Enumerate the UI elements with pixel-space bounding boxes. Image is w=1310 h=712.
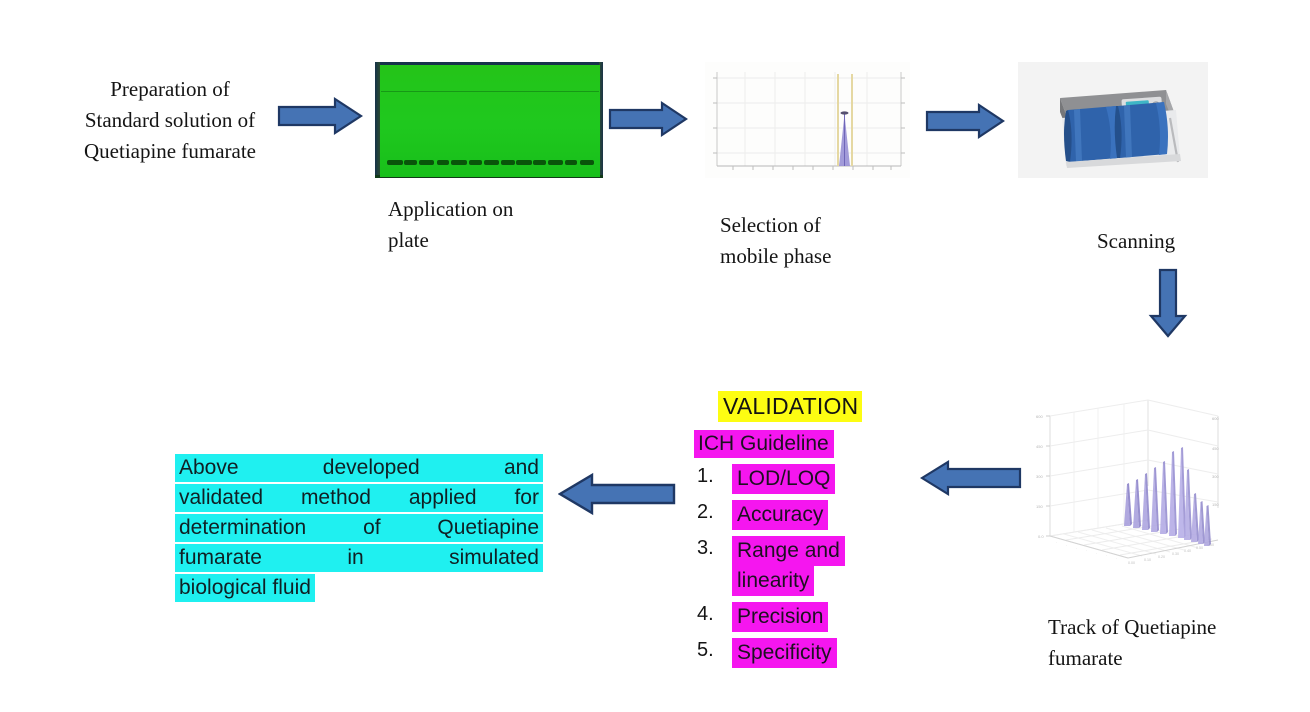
validation-item-label: Specificity: [732, 638, 837, 668]
tlc-scanner-image: [1018, 62, 1208, 178]
caption-track-of-quetiapine-fumarate: Track of Quetiapine fumarate: [1048, 612, 1278, 674]
validation-item-line: linearity: [732, 566, 814, 596]
validation-item: 5.Specificity: [694, 638, 864, 668]
validation-item-line: Accuracy: [732, 500, 828, 530]
conclusion-line: determinationofQuetiapine: [175, 514, 543, 542]
conclusion-word: developed: [323, 457, 420, 478]
validation-item: 4.Precision: [694, 602, 864, 632]
conclusion-word: validated: [179, 487, 263, 508]
validation-item-label: LOD/LOQ: [732, 464, 835, 494]
conclusion-line: Abovedevelopedand: [175, 454, 543, 482]
svg-text:300: 300: [1036, 474, 1043, 479]
validation-item-label: Precision: [732, 602, 828, 632]
validation-item-line: Range and: [732, 536, 845, 566]
step-preparation-label: Preparation of Standard solution of Quet…: [50, 74, 290, 167]
tlc-plate-image: [375, 62, 603, 178]
validation-heading: ICH Guideline: [694, 430, 834, 458]
arrow-right-icon-2: [608, 100, 688, 138]
validation-item: 2.Accuracy: [694, 500, 864, 530]
svg-text:150: 150: [1036, 504, 1043, 509]
conclusion-word: and: [504, 457, 539, 478]
validation-title-text: VALIDATION: [718, 391, 862, 422]
chromatogram-image: [705, 62, 910, 178]
track-3d-plot-image: 600 450 300 150 0.0 600 450 300 150 . . …: [1032, 398, 1222, 578]
conclusion-word: applied: [409, 487, 477, 508]
validation-item-number: 2.: [694, 500, 732, 525]
arrow-left-icon-2: [558, 472, 676, 516]
svg-text:.: .: [1066, 543, 1067, 547]
svg-text:0.00: 0.00: [1128, 561, 1135, 565]
svg-text:.: .: [1096, 551, 1097, 555]
svg-text:300: 300: [1212, 474, 1219, 479]
caption-application-on-plate: Application on plate: [388, 194, 578, 256]
arrow-right-icon-3: [925, 102, 1005, 140]
validation-item-number: 5.: [694, 638, 732, 663]
svg-text:600: 600: [1036, 414, 1043, 419]
validation-title: VALIDATION: [718, 391, 862, 422]
conclusion-word: in: [347, 547, 363, 568]
conclusion-word: method: [301, 487, 371, 508]
conclusion-lines-container: Abovedevelopedandvalidatedmethodappliedf…: [175, 454, 543, 604]
svg-text:0.0: 0.0: [1038, 534, 1044, 539]
validation-list: ICH Guideline 1.LOD/LOQ2.Accuracy3.Range…: [694, 430, 864, 668]
conclusion-word: determination: [179, 517, 306, 538]
validation-item-line: Precision: [732, 602, 828, 632]
conclusion-block: Abovedevelopedandvalidatedmethodappliedf…: [175, 454, 543, 604]
svg-text:0.10: 0.10: [1144, 558, 1151, 562]
validation-item-label: Range andlinearity: [732, 536, 845, 596]
svg-text:.: .: [1076, 546, 1077, 550]
svg-text:600: 600: [1212, 416, 1219, 421]
validation-item-number: 1.: [694, 464, 732, 489]
caption-selection-of-mobile-phase: Selection of mobile phase: [720, 210, 920, 272]
svg-text:0.20: 0.20: [1158, 555, 1165, 559]
conclusion-word: simulated: [449, 547, 539, 568]
svg-text:.: .: [1086, 548, 1087, 552]
validation-item-line: Specificity: [732, 638, 837, 668]
conclusion-line: validatedmethodappliedfor: [175, 484, 543, 512]
validation-item-label: Accuracy: [732, 500, 828, 530]
svg-text:0.30: 0.30: [1172, 552, 1179, 556]
conclusion-word: Quetiapine: [437, 517, 539, 538]
validation-item-number: 3.: [694, 536, 732, 561]
svg-text:.: .: [1106, 553, 1107, 557]
validation-item: 1.LOD/LOQ: [694, 464, 864, 494]
validation-item: 3.Range andlinearity: [694, 536, 864, 596]
arrow-down-icon-1: [1147, 268, 1189, 338]
svg-text:150: 150: [1212, 502, 1219, 507]
arrow-right-icon-1: [277, 96, 363, 136]
validation-items-container: 1.LOD/LOQ2.Accuracy3.Range andlinearity4…: [694, 464, 864, 668]
arrow-left-icon-1: [920, 459, 1022, 497]
conclusion-word: Above: [179, 457, 239, 478]
conclusion-word: for: [514, 487, 539, 508]
svg-text:.: .: [1056, 540, 1057, 544]
svg-text:450: 450: [1036, 444, 1043, 449]
svg-text:.: .: [1116, 556, 1117, 560]
caption-scanning: Scanning: [1097, 226, 1175, 257]
validation-item-number: 4.: [694, 602, 732, 627]
validation-item-line: LOD/LOQ: [732, 464, 835, 494]
conclusion-line: biological fluid: [175, 574, 315, 602]
conclusion-word: of: [363, 517, 381, 538]
conclusion-word: fumarate: [179, 547, 262, 568]
conclusion-line: fumarateinsimulated: [175, 544, 543, 572]
svg-text:450: 450: [1212, 446, 1219, 451]
conclusion-word: biological fluid: [179, 577, 311, 598]
svg-text:0.40: 0.40: [1184, 549, 1191, 553]
svg-text:0.50: 0.50: [1196, 546, 1203, 550]
